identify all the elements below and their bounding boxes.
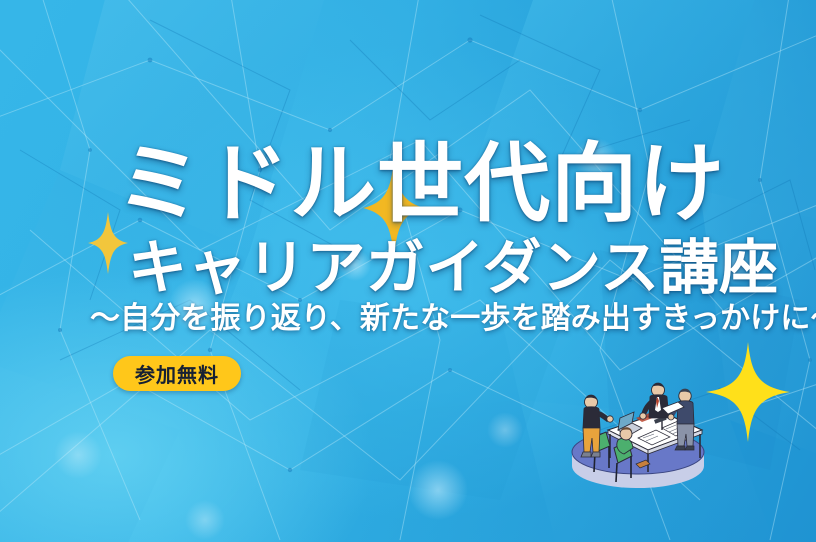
star-large-right-icon — [706, 342, 790, 442]
free-participation-badge[interactable]: 参加無料 — [113, 356, 241, 391]
figure-suit-back — [640, 383, 669, 420]
subtitle: 〜自分を振り返り、新たな一歩を踏み出すきっかけに〜 — [90, 302, 816, 336]
headline-line-2: キャリアガイダンス講座 — [128, 238, 779, 298]
headline-line-1: ミドル世代向け — [116, 140, 725, 228]
promotional-banner: ミドル世代向け キャリアガイダンス講座 〜自分を振り返り、新たな一歩を踏み出すき… — [0, 0, 816, 542]
badge-label: 参加無料 — [135, 359, 219, 388]
isometric-meeting-illustration — [566, 378, 710, 506]
star-small-left-icon — [88, 212, 128, 274]
